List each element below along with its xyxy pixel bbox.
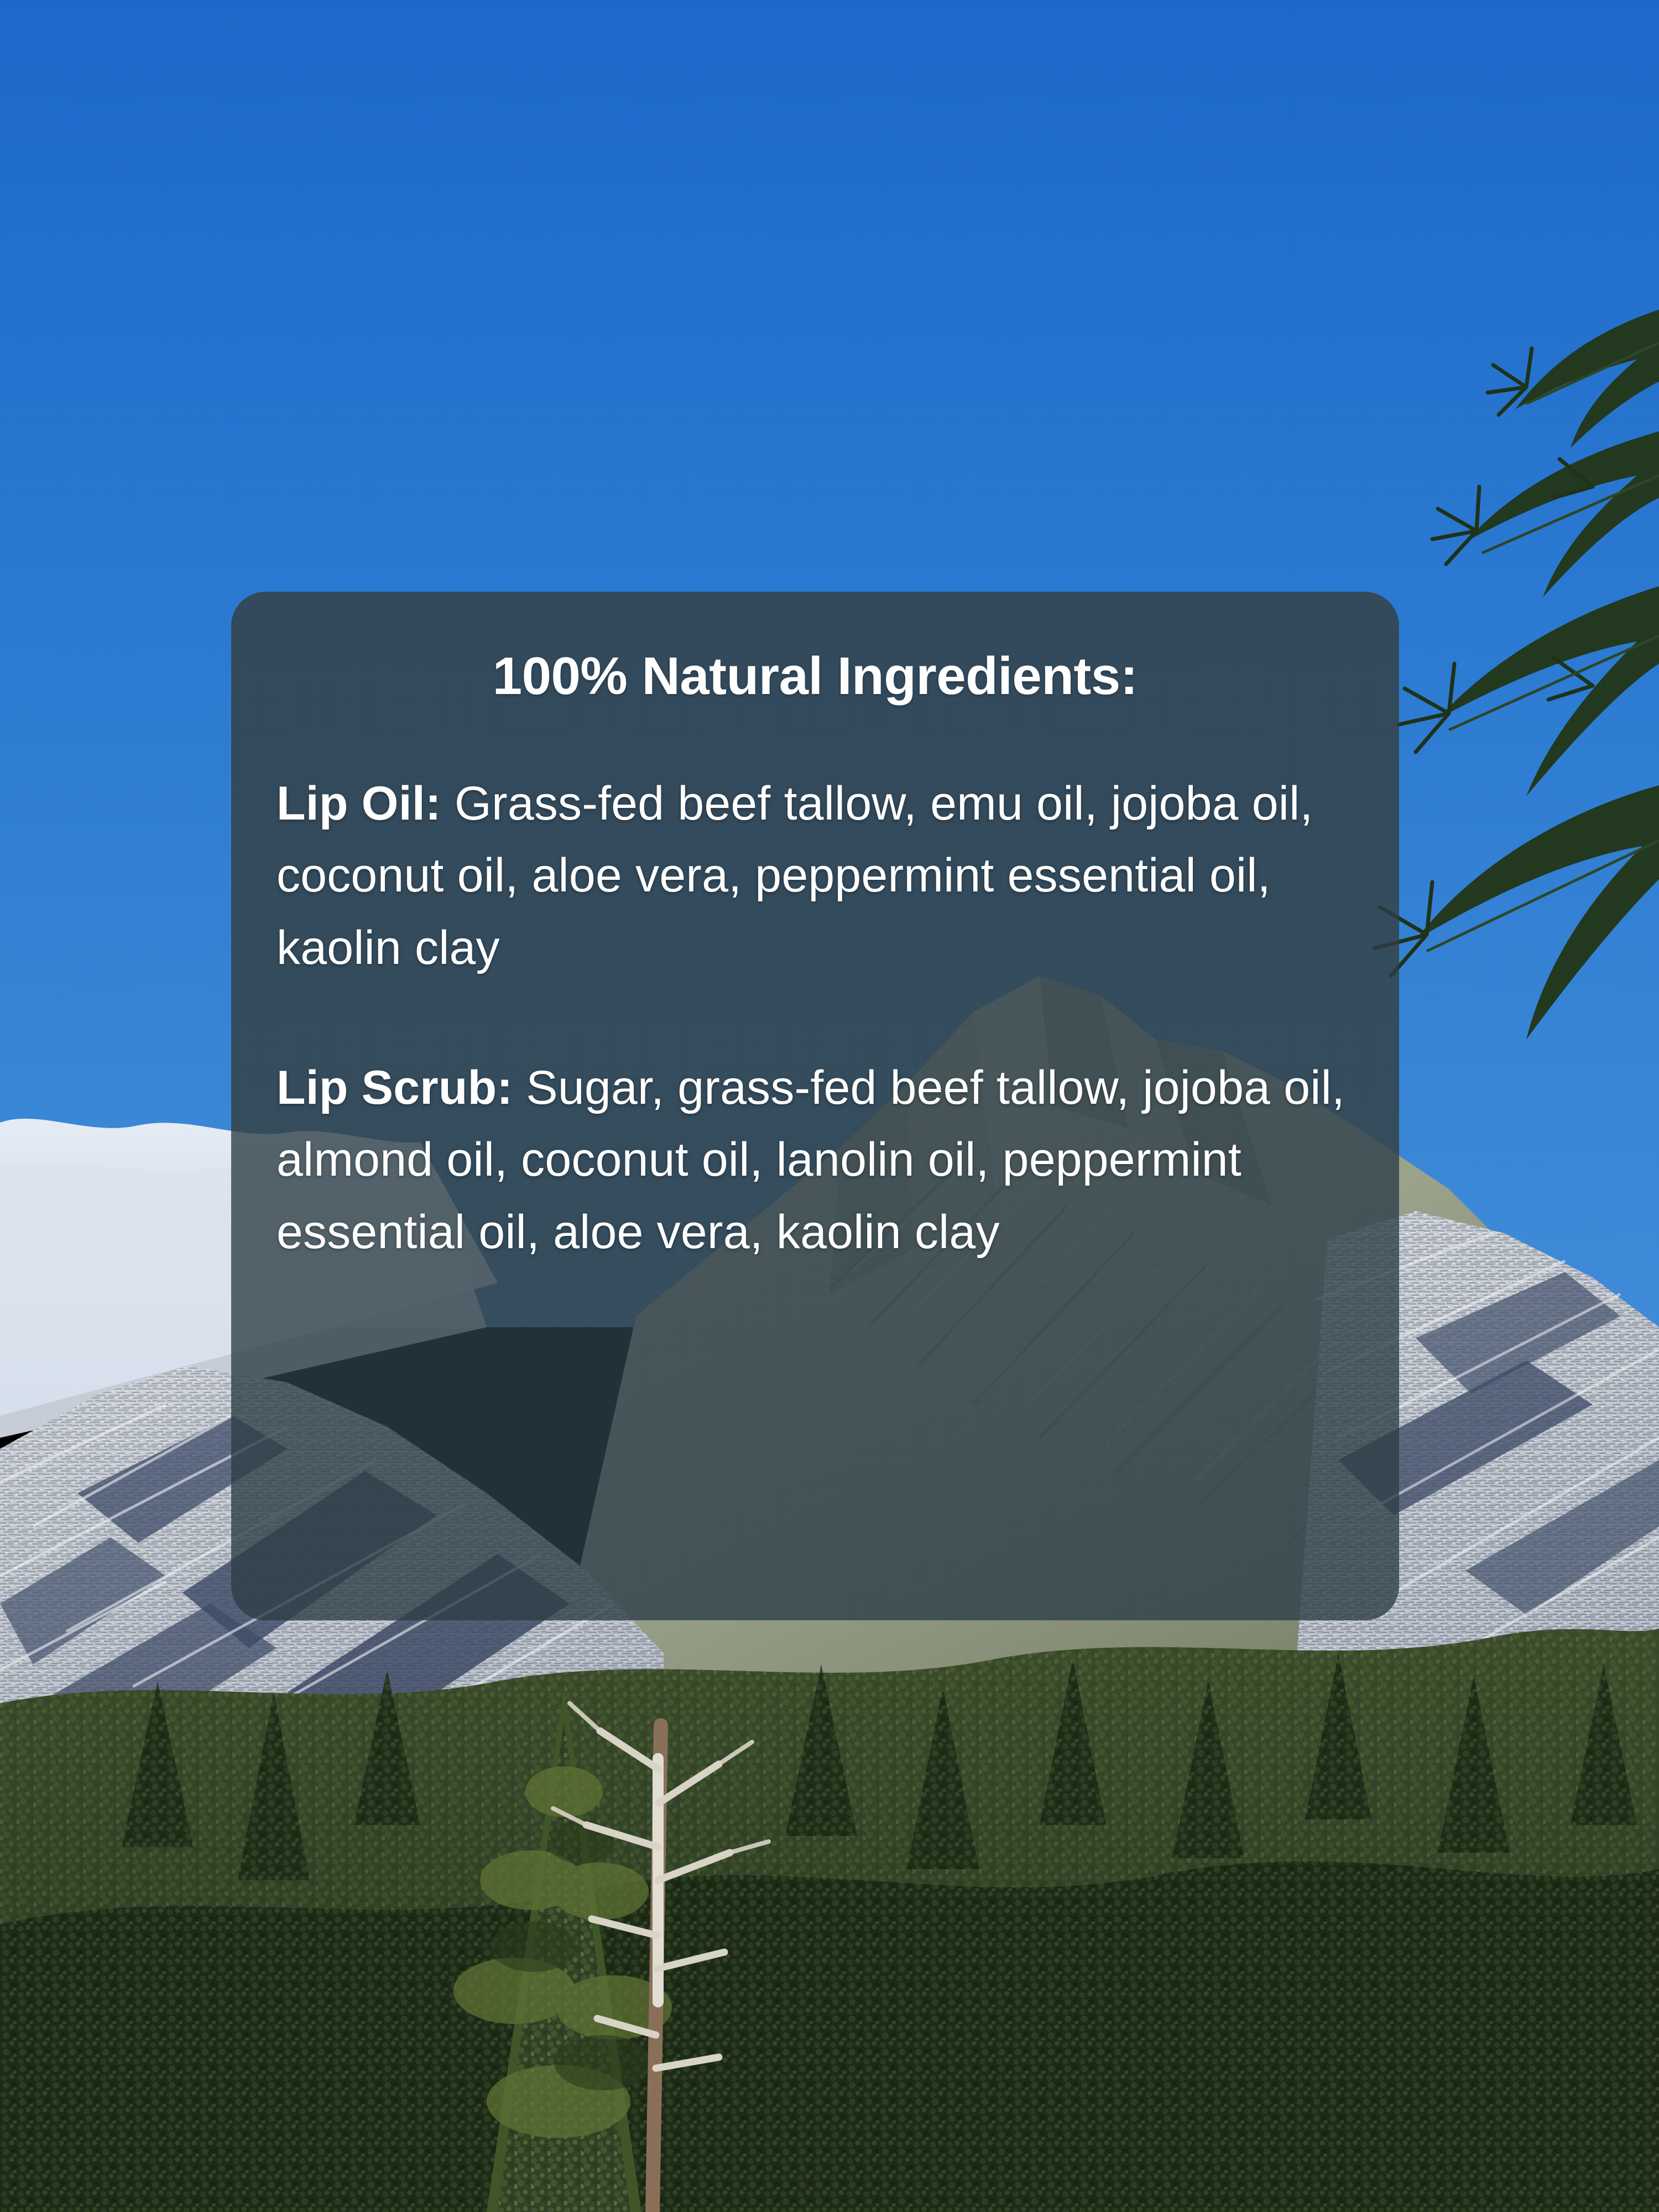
ingredient-label-lip-oil: Lip Oil: <box>276 777 441 830</box>
forest-foreground <box>0 1861 1659 2212</box>
ingredient-block-lip-scrub: Lip Scrub: Sugar, grass-fed beef tallow,… <box>260 1052 1370 1269</box>
ingredients-panel: 100% Natural Ingredients: Lip Oil: Grass… <box>231 592 1399 1620</box>
ingredient-label-lip-scrub: Lip Scrub: <box>276 1061 513 1114</box>
ingredient-block-lip-oil: Lip Oil: Grass-fed beef tallow, emu oil,… <box>260 768 1370 984</box>
page-title: 100% Natural Ingredients: <box>260 592 1370 706</box>
poster-canvas: 100% Natural Ingredients: Lip Oil: Grass… <box>0 0 1659 2212</box>
